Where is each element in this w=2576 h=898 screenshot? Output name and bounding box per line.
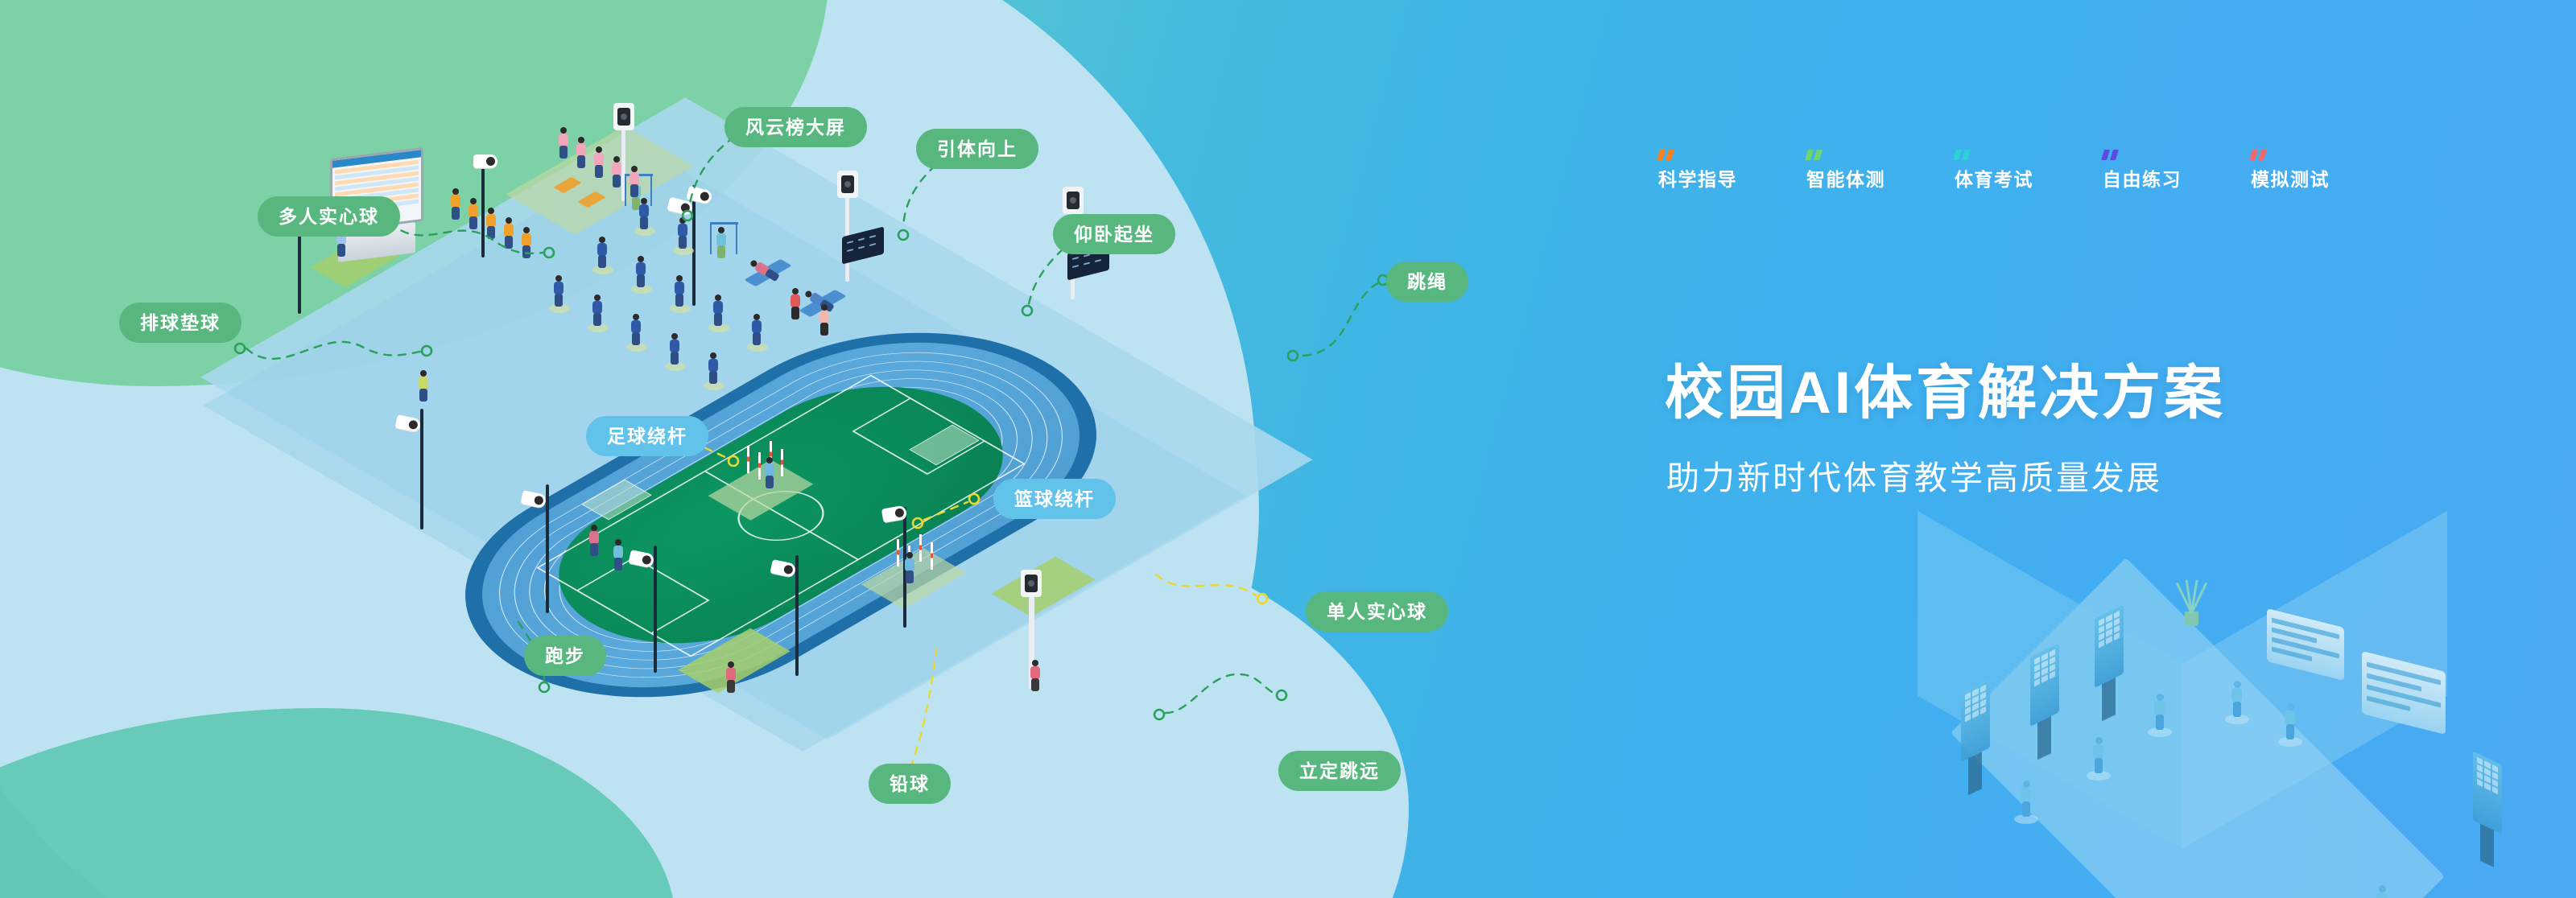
jump-rope-figure [638,198,650,230]
jump-rope-figure [668,333,681,365]
label-running[interactable]: 跑步 [524,636,606,676]
feature-tag-label: 体育考试 [1955,171,2033,189]
double-slash-icon [1658,150,1676,160]
label-single-solid-ball[interactable]: 单人实心球 [1306,591,1448,632]
feature-tag-label: 模拟测试 [2251,171,2330,189]
runner-figure [724,661,737,694]
student-figure [557,127,570,159]
feature-tag-mock-test[interactable]: 模拟测试 [2251,150,2330,189]
slalom-pole [747,446,749,473]
ai-box-camera [613,103,634,130]
label-jump-rope[interactable]: 跳绳 [1386,262,1468,302]
page-subtitle: 助力新时代体育教学高质量发展 [1666,462,2162,495]
jump-rope-figure [750,314,763,346]
jump-rope-figure [676,217,689,249]
student-figure [2019,781,2033,818]
feature-tag-label: 智能体测 [1806,171,1885,189]
ai-box-camera [1063,187,1084,214]
standing-kiosk-display [1961,678,1990,762]
jump-rope-figure [630,314,642,346]
double-slash-icon [1806,150,1824,160]
runner-figure [789,288,802,320]
slalom-pole [897,539,899,566]
label-standing-long-jump[interactable]: 立定跳远 [1278,751,1401,791]
potted-plant [2175,573,2207,626]
double-slash-icon [2103,150,2120,160]
sports-field-illustration [346,105,1393,772]
jump-rope-figure [634,256,647,288]
double-slash-icon [1955,150,1972,160]
camera-pole [692,185,696,306]
student-figure [467,198,480,230]
slalom-pole [919,534,922,562]
jump-rope-figure [712,295,724,327]
slalom-pole [781,449,783,476]
slalom-pole [931,542,933,570]
ai-box-camera [1021,570,1042,597]
student-figure [449,188,462,220]
runner-figure [818,304,831,336]
feature-tag-list: 科学指导 智能体测 体育考试 自由练习 模拟测试 [1658,150,2330,189]
student-figure [2153,694,2167,731]
student-figure [2283,703,2297,740]
label-pull-up[interactable]: 引体向上 [916,129,1038,169]
label-volleyball-pass[interactable]: 排球垫球 [119,303,242,343]
indoor-gym-illustration [1876,531,2576,898]
page-title: 校园AI体育解决方案 [1665,364,2226,422]
label-leaderboard-screen[interactable]: 风云榜大屏 [724,107,867,147]
camera-pole [420,409,423,529]
student-figure [575,137,588,169]
student-figure [485,208,497,240]
student-figure [592,146,605,179]
feature-tag-scientific-guidance[interactable]: 科学指导 [1658,150,1737,189]
camera-pole [654,546,657,673]
hero-banner: 排球垫球 多人实心球 风云榜大屏 引体向上 仰卧起坐 跳绳 足球绕杆 篮球绕杆 … [0,0,2576,898]
runner-figure [417,370,430,402]
feature-tag-free-practice[interactable]: 自由练习 [2103,150,2182,189]
student-figure [2091,737,2106,774]
student-figure [610,156,623,188]
label-sit-up[interactable]: 仰卧起坐 [1053,214,1175,254]
standing-kiosk-display [2473,751,2502,834]
jump-rope-figure [591,295,604,327]
standing-kiosk-display [2095,604,2124,688]
label-basketball-slalom[interactable]: 篮球绕杆 [993,479,1116,519]
student-figure [763,457,776,489]
label-football-slalom[interactable]: 足球绕杆 [586,416,708,456]
student-figure [903,552,916,584]
student-figure [520,227,533,259]
camera-pole [795,555,799,676]
slalom-pole [758,452,761,480]
feature-tag-pe-exam[interactable]: 体育考试 [1955,150,2033,189]
jump-rope-figure [552,275,565,307]
jump-rope-figure [596,237,609,269]
label-shot-put[interactable]: 铅球 [869,764,951,804]
jump-rope-figure [673,275,686,307]
camera-pole [546,484,549,613]
ai-camera [473,154,497,168]
feature-tag-label: 自由练习 [2103,171,2182,189]
jump-rope-figure [707,352,720,385]
student-figure [715,227,728,259]
feature-tag-smart-fitness-test[interactable]: 智能体测 [1806,150,1885,189]
runner-figure [588,525,601,557]
standing-kiosk-display [2030,643,2059,727]
student-figure [628,166,641,198]
jump-rope-figure [2375,885,2389,898]
shot-put-figure [1029,660,1042,692]
runner-figure [612,539,625,571]
camera-pole [298,225,301,314]
double-slash-icon [2251,150,2268,160]
feature-tag-label: 科学指导 [1658,171,1737,189]
student-figure [2230,681,2244,718]
label-multi-solid-ball[interactable]: 多人实心球 [258,196,400,237]
student-figure [502,217,515,249]
ai-box-camera [837,171,858,198]
